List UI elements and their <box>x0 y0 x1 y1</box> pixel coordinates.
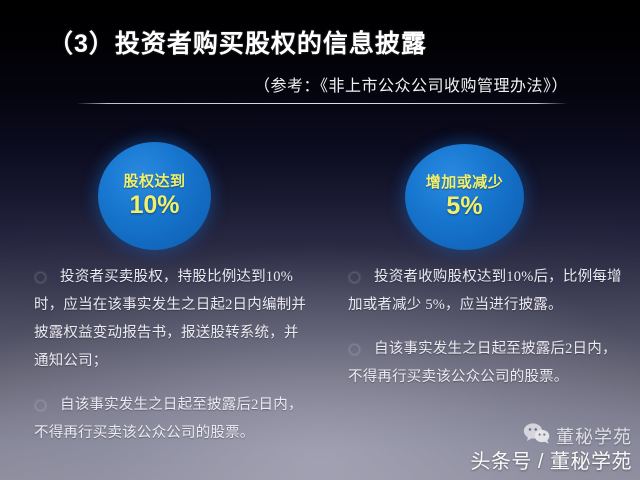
list-item: 自该事实发生之日起至披露后2日内，不得再行买卖该公众公司的股票。 <box>34 391 312 447</box>
content-column-left: 投资者买卖股权，持股比例达到10%时，应当在该事实发生之日起2日内编制并披露权益… <box>34 263 312 463</box>
slide-canvas: （3）投资者购买股权的信息披露 （参考：《非上市公众公司收购管理办法》） 股权达… <box>0 0 640 480</box>
bullet-dot-icon <box>350 345 359 354</box>
watermark-source-label: 头条号 / 董秘学苑 <box>470 445 632 474</box>
bullet-dot-icon <box>36 273 45 282</box>
content-column-right: 投资者收购股权达到10%后，比例每增加或者减少 5%，应当进行披露。 自该事实发… <box>348 263 626 407</box>
bullet-dot-icon <box>350 273 359 282</box>
circle-badge-left: 股权达到 10% <box>98 142 211 250</box>
bullet-dot-icon <box>36 401 45 410</box>
list-item-text: 投资者买卖股权，持股比例达到10%时，应当在该事实发生之日起2日内编制并披露权益… <box>34 269 306 369</box>
circle-right-label: 增加或减少 <box>426 175 504 190</box>
circle-badge-right: 增加或减少 5% <box>405 144 524 250</box>
circle-left-value: 10% <box>129 193 179 218</box>
circle-right-value: 5% <box>446 194 482 219</box>
list-item-text: 投资者收购股权达到10%后，比例每增加或者减少 5%，应当进行披露。 <box>348 269 622 313</box>
watermark: 董秘学苑 头条号 / 董秘学苑 <box>470 423 632 474</box>
list-item: 投资者买卖股权，持股比例达到10%时，应当在该事实发生之日起2日内编制并披露权益… <box>34 263 312 375</box>
list-item: 投资者收购股权达到10%后，比例每增加或者减少 5%，应当进行披露。 <box>348 263 626 319</box>
header-divider <box>78 103 566 104</box>
page-title: （3）投资者购买股权的信息披露 <box>48 24 427 60</box>
list-item-text: 自该事实发生之日起至披露后2日内，不得再行买卖该公众公司的股票。 <box>34 397 303 441</box>
list-item: 自该事实发生之日起至披露后2日内，不得再行买卖该公众公司的股票。 <box>348 335 626 391</box>
list-item-text: 自该事实发生之日起至披露后2日内，不得再行买卖该公众公司的股票。 <box>348 341 617 385</box>
circle-left-label: 股权达到 <box>123 174 185 189</box>
page-subtitle-reference: （参考：《非上市公众公司收购管理办法》） <box>254 72 568 96</box>
